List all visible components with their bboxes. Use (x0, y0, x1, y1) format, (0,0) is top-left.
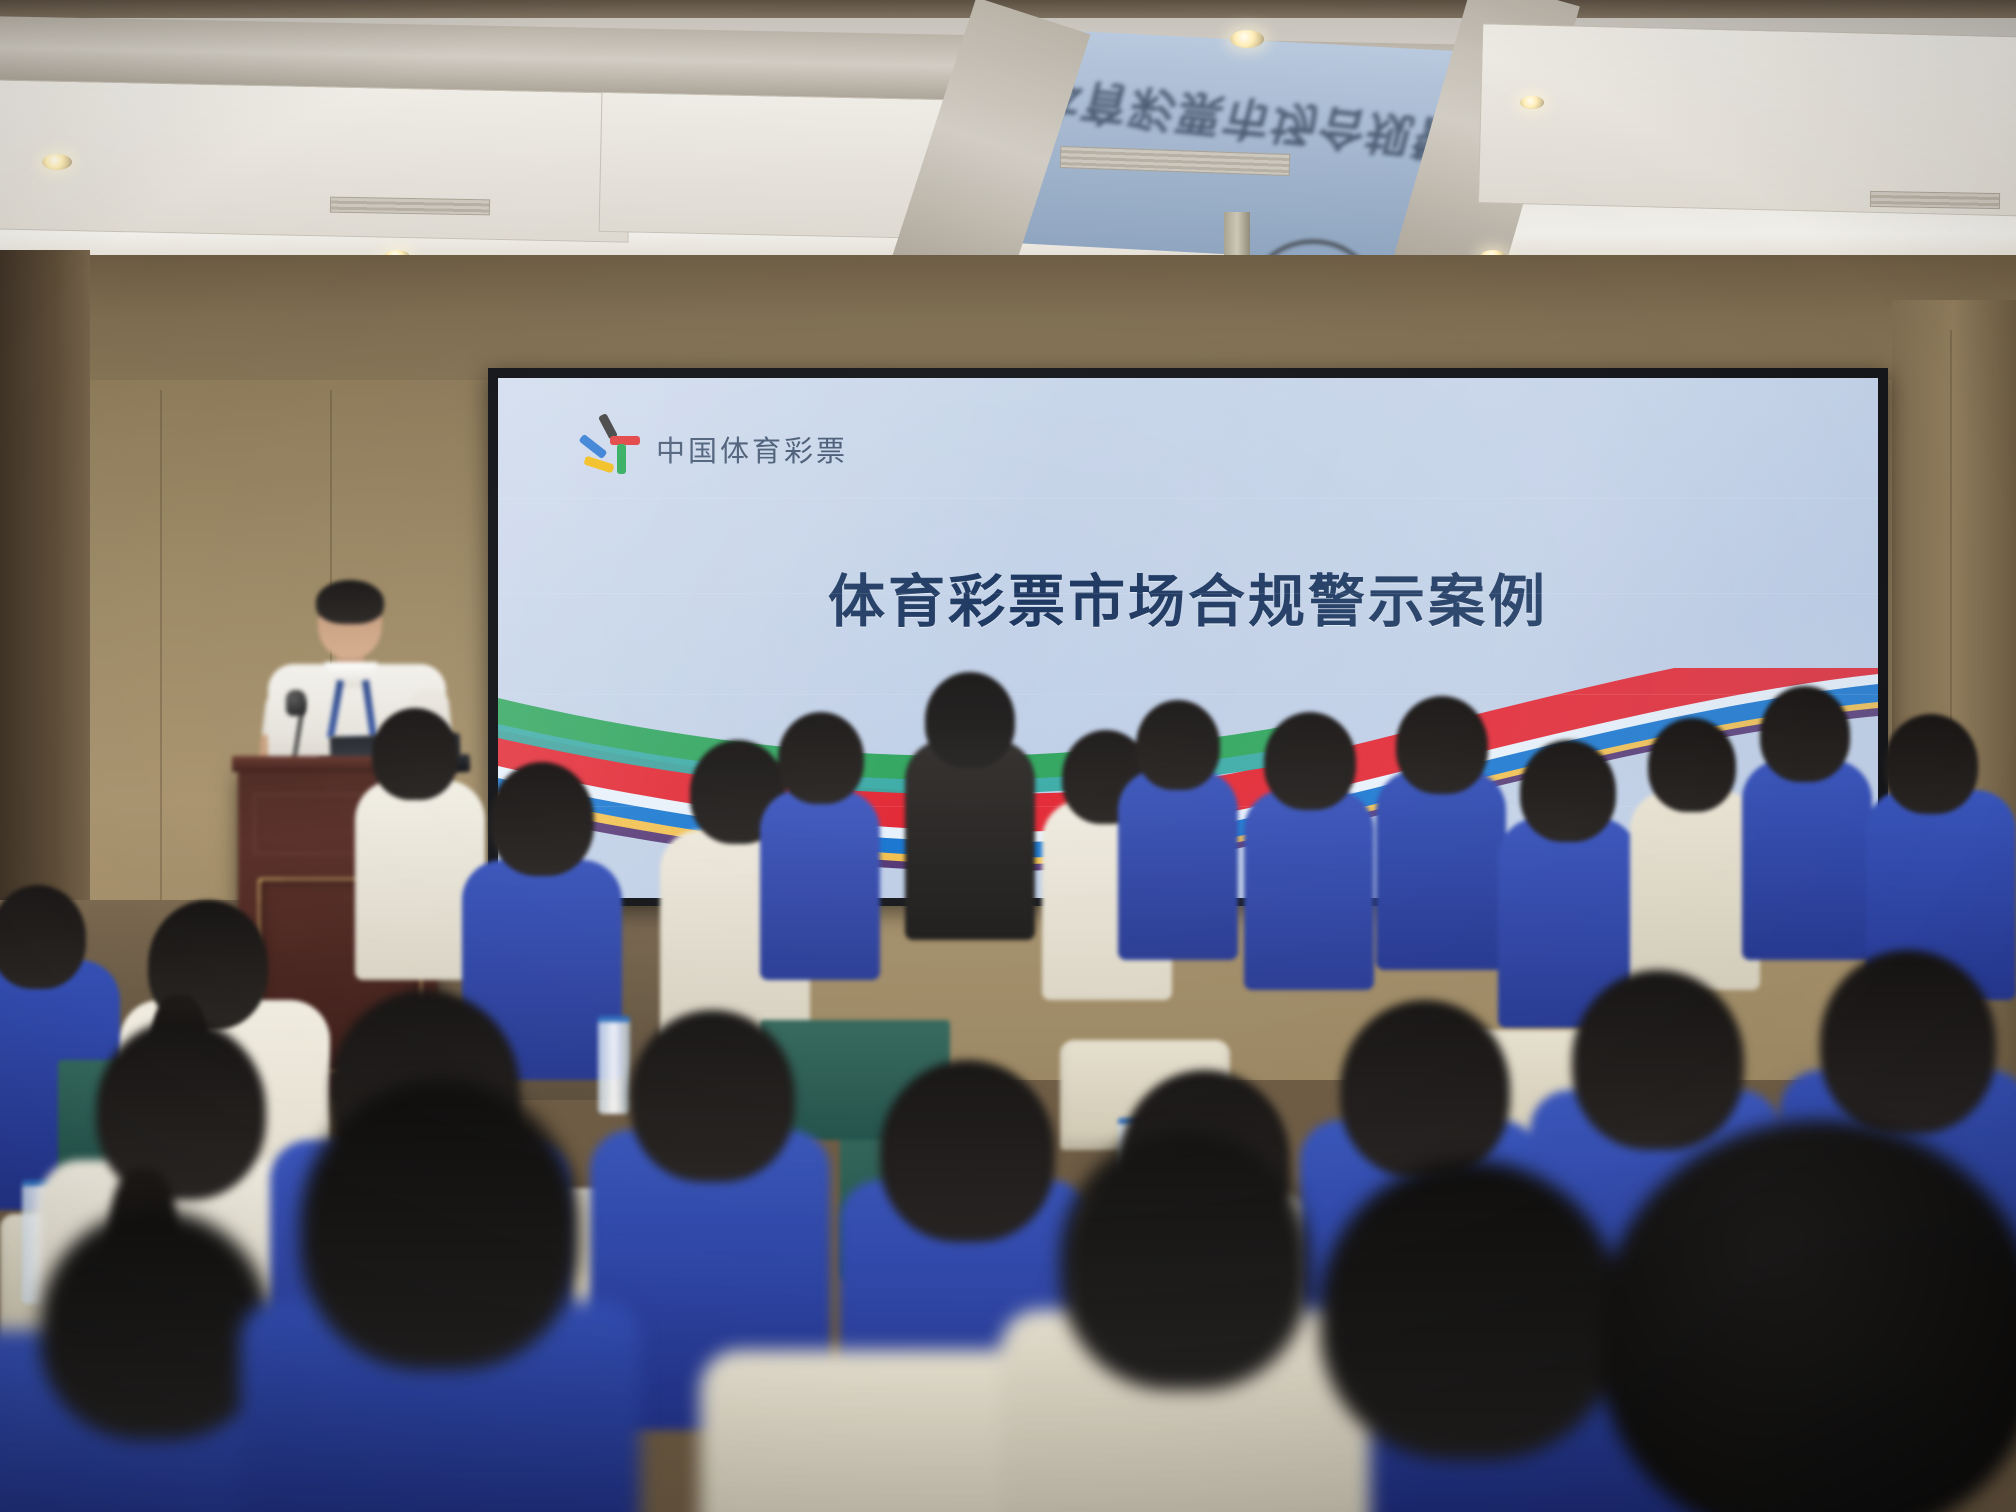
conference-room-photo: 体育彩票市场合规警示案例 (0, 0, 2016, 1512)
audience-row-foreground (0, 0, 2016, 1512)
fg-attendee-4-head (1060, 1130, 1310, 1390)
fg-attendee-6-head (1600, 1120, 2016, 1512)
fg-attendee-2-head (300, 1080, 580, 1370)
fg-attendee-1-head (40, 1210, 270, 1440)
fg-attendee-5-head (1320, 1160, 1620, 1460)
